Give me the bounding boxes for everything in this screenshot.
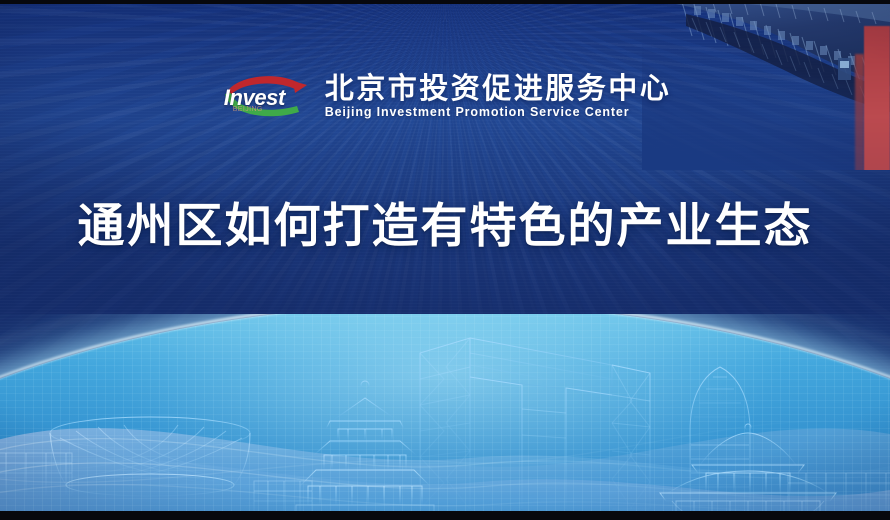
letterbox-top <box>0 0 890 4</box>
org-name-cn: 北京市投资促进服务中心 <box>325 74 672 105</box>
brand-titles: 北京市投资促进服务中心 Beijing Investment Promotion… <box>325 74 672 120</box>
title-slide: Invest BEIJING 北京市投资促进服务中心 Beijing Inves… <box>0 0 890 520</box>
invest-wordmark-sub: BEIJING <box>233 106 263 113</box>
letterbox-bottom <box>0 511 890 520</box>
invest-logo: Invest BEIJING <box>219 72 311 122</box>
brand-lockup: Invest BEIJING 北京市投资促进服务中心 Beijing Inves… <box>0 72 890 122</box>
background-top-tint <box>0 0 890 302</box>
org-name-en: Beijing Investment Promotion Service Cen… <box>325 106 672 120</box>
slide-headline: 通州区如何打造有特色的产业生态 <box>0 198 890 253</box>
